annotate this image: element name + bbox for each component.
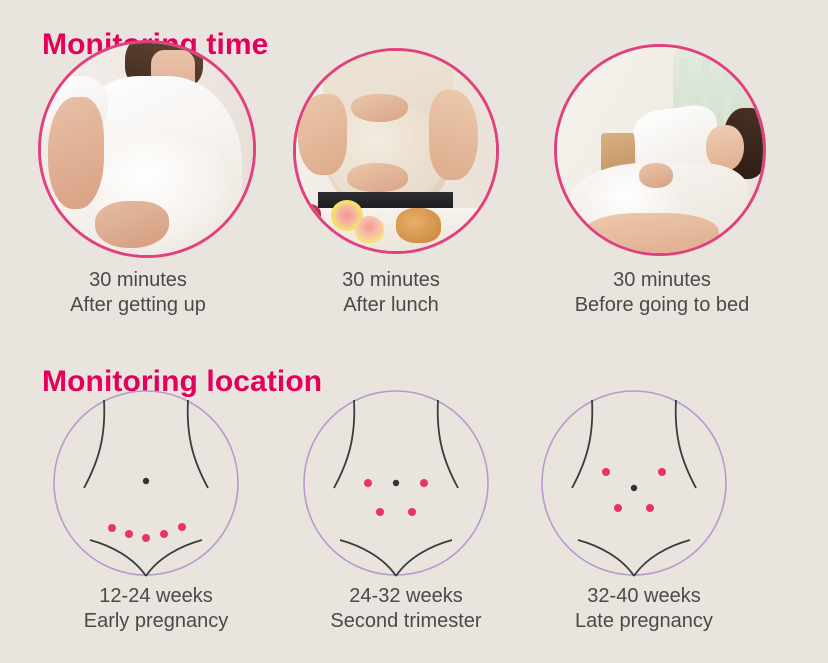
photo-woman-with-fruit xyxy=(296,51,496,251)
monitoring-location-card-2: 24-32 weeks Second trimester xyxy=(268,388,544,658)
photo-circle-before-bed: pregnant-woman-resting-in-bed xyxy=(554,44,766,256)
navel-marker xyxy=(143,478,149,484)
caption-line-2: Before going to bed xyxy=(524,293,800,318)
abdomen-diagram-second-trimester xyxy=(296,388,496,578)
monitoring-location-card-1: 12-24 weeks Early pregnancy xyxy=(18,388,294,658)
caption-line-2: Early pregnancy xyxy=(18,609,294,634)
monitoring-point-marker xyxy=(614,504,622,512)
photo-woman-in-bed xyxy=(557,47,763,253)
monitoring-time-row: pregnant-woman-standing-hand-on-belly 30… xyxy=(0,40,828,330)
monitoring-point-marker xyxy=(142,534,150,542)
photo-standing-woman xyxy=(41,43,253,255)
monitoring-point-marker xyxy=(646,504,654,512)
monitoring-time-card-1: pregnant-woman-standing-hand-on-belly 30… xyxy=(0,40,276,330)
caption-line-1: 30 minutes xyxy=(524,268,800,293)
caption-line-1: 32-40 weeks xyxy=(506,584,782,609)
caption-line-2: After lunch xyxy=(253,293,529,318)
monitoring-time-card-2: pregnant-woman-holding-belly-with-fruit-… xyxy=(253,40,529,330)
caption-line-1: 24-32 weeks xyxy=(268,584,544,609)
monitoring-point-marker xyxy=(125,530,133,538)
monitoring-location-card-3: 32-40 weeks Late pregnancy xyxy=(506,388,782,658)
monitoring-point-marker xyxy=(602,468,610,476)
monitoring-point-marker xyxy=(108,524,116,532)
caption-line-1: 30 minutes xyxy=(253,268,529,293)
abdomen-diagram-late-pregnancy xyxy=(534,388,734,578)
infographic-page: Monitoring time pregnant-w xyxy=(0,0,828,663)
navel-marker xyxy=(393,480,399,486)
monitoring-point-marker xyxy=(658,468,666,476)
monitoring-point-marker xyxy=(160,530,168,538)
monitoring-location-row: 12-24 weeks Early pregnancy 24-32 weeks … xyxy=(0,388,828,658)
caption-after-getting-up: 30 minutes After getting up xyxy=(0,268,276,318)
photo-circle-after-getting-up: pregnant-woman-standing-hand-on-belly xyxy=(38,40,256,258)
monitoring-point-marker xyxy=(408,508,416,516)
caption-after-lunch: 30 minutes After lunch xyxy=(253,268,529,318)
monitoring-time-card-3: pregnant-woman-resting-in-bed 30 minutes… xyxy=(524,40,800,330)
caption-early-pregnancy: 12-24 weeks Early pregnancy xyxy=(18,584,294,634)
navel-marker xyxy=(631,485,637,491)
monitoring-point-marker xyxy=(376,508,384,516)
caption-line-2: Late pregnancy xyxy=(506,609,782,634)
caption-line-1: 30 minutes xyxy=(0,268,276,293)
caption-late-pregnancy: 32-40 weeks Late pregnancy xyxy=(506,584,782,634)
caption-line-1: 12-24 weeks xyxy=(18,584,294,609)
monitoring-point-marker xyxy=(364,479,372,487)
monitoring-point-marker xyxy=(420,479,428,487)
abdomen-diagram-early-pregnancy xyxy=(46,388,246,578)
photo-circle-after-lunch: pregnant-woman-holding-belly-with-fruit-… xyxy=(293,48,499,254)
caption-line-2: Second trimester xyxy=(268,609,544,634)
caption-line-2: After getting up xyxy=(0,293,276,318)
monitoring-point-marker xyxy=(178,523,186,531)
caption-before-bed: 30 minutes Before going to bed xyxy=(524,268,800,318)
caption-second-trimester: 24-32 weeks Second trimester xyxy=(268,584,544,634)
